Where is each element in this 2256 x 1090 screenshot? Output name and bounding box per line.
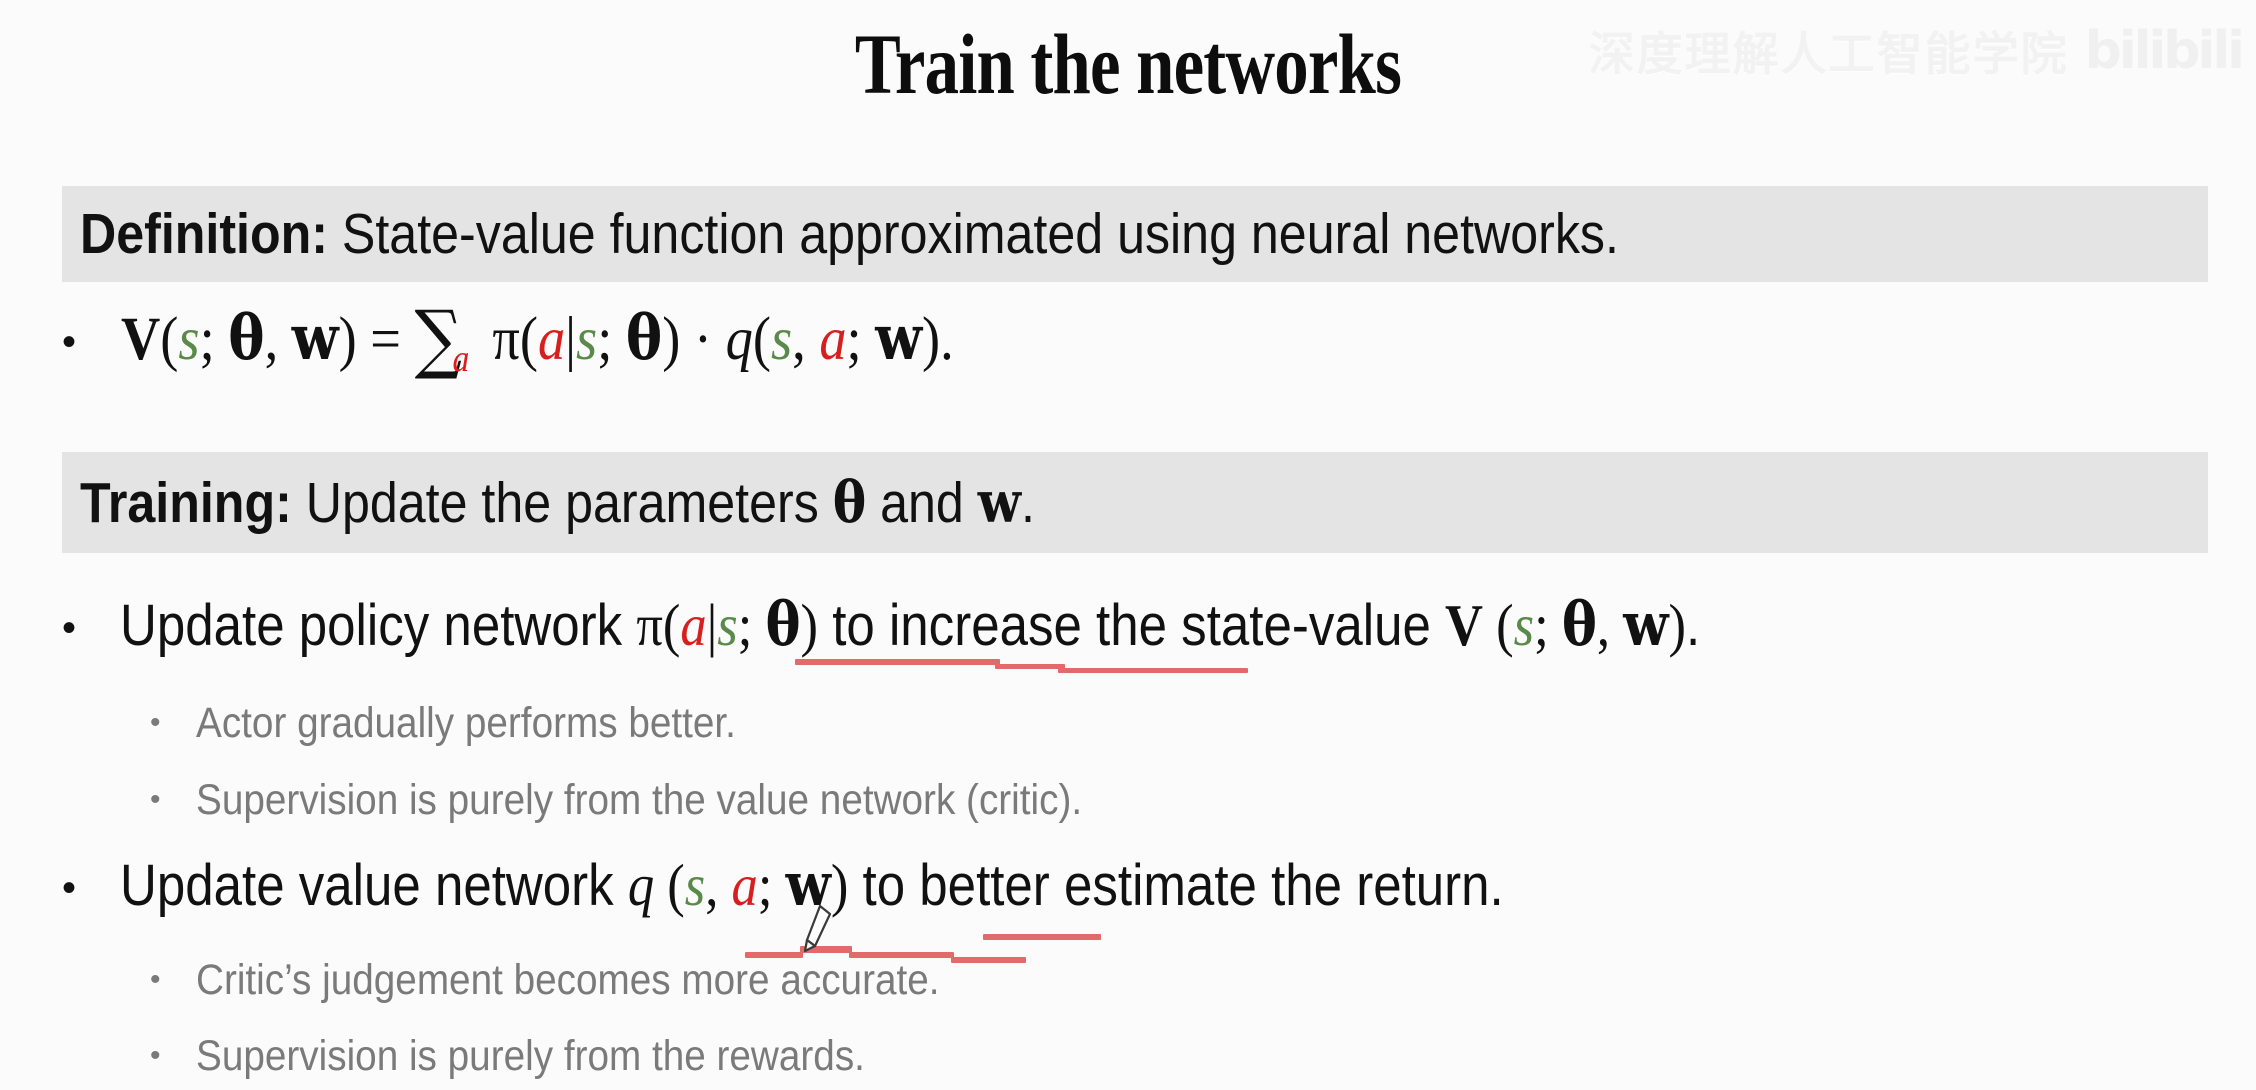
bullet-2-text: Update value network q (s, a; w) to bett… [120,856,1504,916]
definition-text: State-value function approximated using … [342,202,1619,266]
bullet-update-policy-network: Update policy network π(a|s; θ) to incre… [62,596,1916,656]
bilibili-logo-icon: bilibili [2085,21,2242,81]
training-w: w [978,469,1021,536]
subbullet-supervision-rewards: Supervision is purely from the rewards. [150,1035,939,1078]
definition-banner: Definition: State-value function approxi… [62,186,2208,282]
bullet-1-suffix: . [1686,593,1700,658]
training-text-after: . [1021,471,1035,535]
definition-formula: V(s; θ, w) = ∑a π(a|s; θ) · q(s, a; w). [62,296,1067,371]
subbullet-2-2-text: Supervision is purely from the rewards. [196,1035,865,1078]
training-text-between: and [866,471,978,535]
training-theta: θ [833,469,866,536]
definition-formula-text: V(s; θ, w) = ∑a π(a|s; θ) · q(s, a; w). [121,296,954,371]
training-banner: Training: Update the parameters θ and w. [62,452,2208,553]
annotation-underline-policy-c [1058,668,1248,673]
annotation-underline-w [983,934,1101,940]
training-line: Training: Update the parameters θ and w. [80,474,1035,532]
subbullet-1-1-text: Actor gradually performs better. [196,702,736,745]
slide-canvas: Train the networks 深度理解人工智能学院 bilibili D… [0,0,2256,1090]
bullet-1-middle: to increase the state-value [818,593,1445,658]
bullet-1-text: Update policy network π(a|s; θ) to incre… [120,596,1700,656]
page-title: Train the networks [226,14,2031,114]
definition-label: Definition: [80,202,328,266]
annotation-underline-policy-a [795,659,1000,665]
bullet-2-middle: to better estimate the return. [848,853,1503,918]
subbullet-1-2-text: Supervision is purely from the value net… [196,779,1082,822]
training-text-before: Update the parameters [306,471,833,535]
subbullet-2-1-text: Critic’s judgement becomes more accurate… [196,959,940,1002]
bullet-2-prefix: Update value network [120,853,628,918]
subbullet-actor-performs-better: Actor gradually performs better. [150,702,796,745]
training-label: Training: [80,471,292,535]
annotation-underline-q-b [800,946,852,953]
subbullet-critic-judgement: Critic’s judgement becomes more accurate… [150,959,1022,1002]
subbullet-supervision-value-network: Supervision is purely from the value net… [150,779,1181,822]
definition-line: Definition: State-value function approxi… [80,206,1619,263]
bullet-1-prefix: Update policy network [120,593,636,658]
bullet-update-value-network: Update value network q (s, a; w) to bett… [62,856,1693,916]
annotation-underline-policy-b [995,664,1065,669]
